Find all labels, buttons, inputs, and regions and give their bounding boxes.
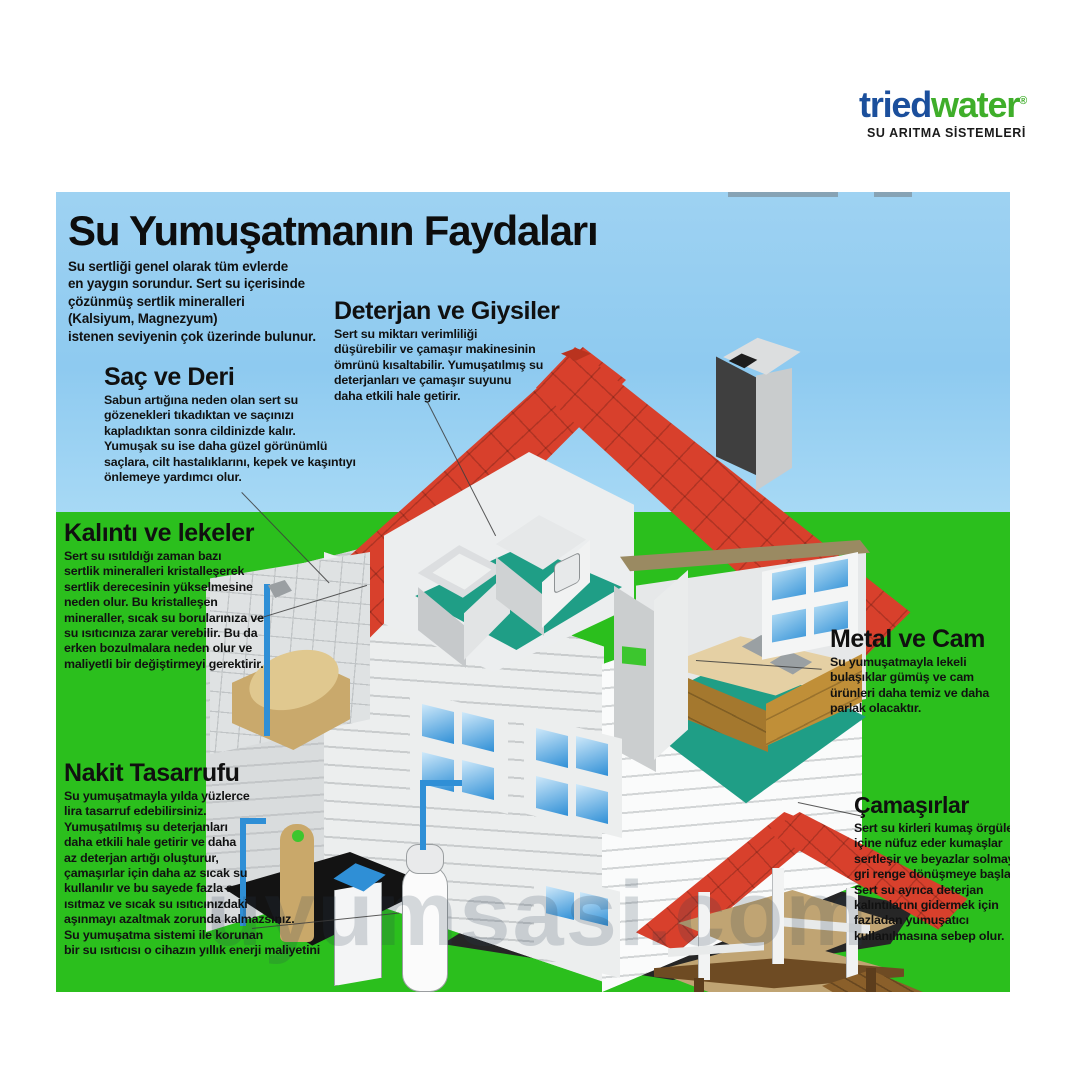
nakit-line-1: lira tasarruf edebilirsiniz. — [64, 804, 326, 819]
section-camasirlar: Çamaşırlar Sert su kirleri kumaş örgüler… — [854, 792, 1010, 944]
brand-tagline: SU ARITMA SİSTEMLERİ — [836, 126, 1026, 140]
porch-column-1 — [698, 892, 710, 980]
nakit-line-5: çamaşırlar için daha az sıcak su — [64, 866, 326, 881]
metal-line-2: ürünleri daha temiz ve daha — [830, 686, 1010, 701]
kalinti-line-5: su ısıtıcınıza zarar verebilir. Bu da — [64, 626, 314, 641]
camasirlar-line-7: kullanılmasına sebep olur. — [854, 929, 1010, 944]
nakit-line-9: Su yumuşatma sistemi ile korunan — [64, 928, 326, 943]
camasirlar-line-4: Sert su ayrıca deterjan — [854, 883, 1010, 898]
section-heading-camasirlar: Çamaşırlar — [854, 792, 1010, 819]
kalinti-line-2: sertlik derecesinin yükselmesine — [64, 580, 314, 595]
section-nakit-tasarrufu: Nakit Tasarrufu Su yumuşatmayla yılda yü… — [64, 760, 326, 958]
deterjan-line-1: düşürebilir ve çamaşır makinesinin — [334, 342, 594, 357]
sac-ve-deri-line-3: Yumuşak su ise daha güzel görünümlü — [104, 439, 404, 454]
top-artifact-text-2 — [874, 192, 912, 197]
camasirlar-line-5: kalıntılarını gidermek için — [854, 898, 1010, 913]
section-kalinti-ve-lekeler: Kalıntı ve lekeler Sert su ısıtıldığı za… — [64, 520, 314, 672]
intro-line-0: Su sertliği genel olarak tüm evlerde — [68, 258, 448, 275]
section-heading-nakit: Nakit Tasarrufu — [64, 760, 326, 787]
intro-line-1: en yaygın sorundur. Sert su içerisinde — [68, 275, 448, 292]
sac-ve-deri-line-1: gözenekleri tıkadıktan ve saçınızı — [104, 408, 404, 423]
nakit-line-0: Su yumuşatmayla yılda yüzlerce — [64, 789, 326, 804]
brine-tank-body — [334, 882, 382, 986]
top-artifact-text — [728, 192, 838, 197]
section-heading-metal: Metal ve Cam — [830, 626, 1010, 653]
deterjan-line-0: Sert su miktarı verimliliği — [334, 327, 594, 342]
nakit-line-10: bir su ısıtıcısı o cihazın yıllık enerji… — [64, 943, 326, 958]
kalinti-line-1: sertlik mineralleri kristalleşerek — [64, 564, 314, 579]
nakit-line-4: az deterjan artığı oluşturur, — [64, 851, 326, 866]
deterjan-line-2: ömrünü kısaltabilir. Yumuşatılmış su — [334, 358, 594, 373]
brand-name-part2: water — [931, 84, 1019, 125]
camasirlar-line-2: sertleşir ve beyazlar solmaya — [854, 852, 1010, 867]
page-title: Su Yumuşatmanın Faydaları — [68, 208, 448, 254]
kalinti-line-0: Sert su ısıtıldığı zaman bazı — [64, 549, 314, 564]
metal-line-0: Su yumuşatmayla lekeli — [830, 655, 1010, 670]
camasirlar-line-6: fazladan yumuşatıcı — [854, 913, 1010, 928]
nakit-line-7: ısıtmaz ve sıcak su ısıtıcınızdaki — [64, 897, 326, 912]
deterjan-line-4: daha etkili hale getirir. — [334, 389, 594, 404]
section-deterjan-ve-giysiler: Deterjan ve Giysiler Sert su miktarı ver… — [334, 298, 594, 404]
softener-outlet-pipe — [420, 780, 426, 850]
metal-line-1: bulaşıklar gümüş ve cam — [830, 670, 1010, 685]
metal-line-3: parlak olacaktır. — [830, 701, 1010, 716]
nakit-line-3: daha etkili hale getirir ve daha — [64, 835, 326, 850]
brand-name-part1: tried — [859, 84, 931, 125]
poster-canvas: triedwater® SU ARITMA SİSTEMLERİ — [0, 0, 1080, 1080]
brand-logo: triedwater® SU ARITMA SİSTEMLERİ — [836, 82, 1026, 140]
kalinti-line-6: erken bozulmalara neden olur ve — [64, 641, 314, 656]
kalinti-line-4: mineraller, sıcak su borularınıza ve — [64, 611, 314, 626]
section-metal-ve-cam: Metal ve Cam Su yumuşatmayla lekeli bula… — [830, 626, 1010, 717]
porch-post-1 — [694, 978, 704, 992]
nakit-line-2: Yumuşatılmış su deterjanları — [64, 820, 326, 835]
sac-ve-deri-line-5: önlemeye yardımcı olur. — [104, 470, 404, 485]
chimney-side-face — [756, 368, 792, 496]
camasirlar-line-3: gri renge dönüşmeye başlar. — [854, 867, 1010, 882]
section-heading-deterjan: Deterjan ve Giysiler — [334, 298, 594, 325]
section-heading-kalinti: Kalıntı ve lekeler — [64, 520, 314, 547]
kalinti-line-3: neden olur. Bu kristalleşen — [64, 595, 314, 610]
brand-wordmark: triedwater® — [836, 82, 1026, 124]
infographic: uyumsasi.com Su Yumuşatmanın Faydaları S… — [56, 192, 1010, 992]
nakit-line-8: aşınmayı azaltmak zorunda kalmazsınız. — [64, 912, 326, 927]
nakit-line-6: kullanılır ve bu sayede fazla su — [64, 881, 326, 896]
porch-column-2 — [772, 868, 784, 964]
camasirlar-line-1: içine nüfuz eder kumaşlar — [854, 836, 1010, 851]
chimney-front-face — [716, 354, 758, 476]
sac-ve-deri-line-4: saçlara, cilt hastalıklarını, kepek ve k… — [104, 455, 404, 470]
camasirlar-line-0: Sert su kirleri kumaş örgüleri — [854, 821, 1010, 836]
kalinti-line-7: maliyetli bir değiştirmeyi gerektirir. — [64, 657, 314, 672]
deterjan-line-3: deterjanları ve çamaşır suyunu — [334, 373, 594, 388]
refrigerator-side — [654, 570, 688, 760]
porch-post-3 — [866, 968, 876, 992]
registered-mark-icon: ® — [1019, 95, 1026, 107]
softener-outlet-elbow — [420, 780, 462, 786]
softener-tank-body — [402, 864, 448, 992]
sac-ve-deri-line-2: kapladıktan sonra cildinizde kalır. — [104, 424, 404, 439]
